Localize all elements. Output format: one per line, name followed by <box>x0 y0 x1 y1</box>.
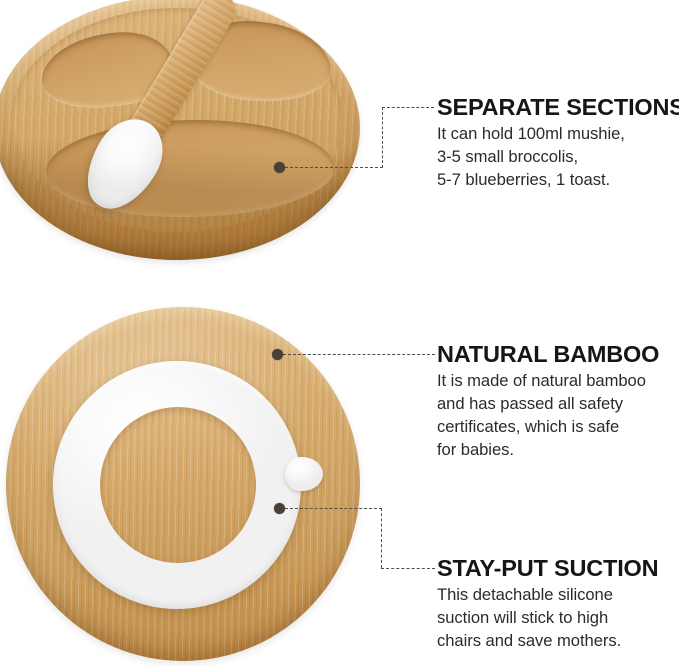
callout-dot-stay-put-suction <box>274 503 285 514</box>
leader-line-stay-put-suction-v <box>381 508 382 568</box>
leader-line-natural-bamboo-h <box>283 354 435 355</box>
leader-line-separate-sections-h2 <box>382 107 434 108</box>
callout-separate-sections: SEPARATE SECTIONS It can hold 100ml mush… <box>437 94 679 192</box>
product-image-plate-underside <box>6 307 366 666</box>
product-image-divided-plate <box>0 0 360 281</box>
callout-title-natural-bamboo: NATURAL BAMBOO <box>437 341 679 367</box>
callout-dot-natural-bamboo <box>272 349 283 360</box>
callout-body-stay-put-suction: This detachable silicone suction will st… <box>437 584 679 653</box>
callout-body-natural-bamboo: It is made of natural bamboo and has pas… <box>437 370 679 462</box>
callout-body-separate-sections: It can hold 100ml mushie, 3-5 small broc… <box>437 123 679 192</box>
silicone-suction-ring <box>53 361 301 609</box>
infographic-canvas: SEPARATE SECTIONS It can hold 100ml mush… <box>0 0 679 666</box>
callout-natural-bamboo: NATURAL BAMBOO It is made of natural bam… <box>437 341 679 462</box>
callout-title-separate-sections: SEPARATE SECTIONS <box>437 94 679 120</box>
silicone-ring-inner-opening <box>100 407 256 563</box>
callout-title-stay-put-suction: STAY-PUT SUCTION <box>437 555 679 581</box>
leader-line-separate-sections-v <box>382 107 383 168</box>
leader-line-stay-put-suction-h2 <box>381 568 435 569</box>
callout-stay-put-suction: STAY-PUT SUCTION This detachable silicon… <box>437 555 679 653</box>
leader-line-separate-sections-h1 <box>285 167 383 168</box>
leader-line-stay-put-suction-h1 <box>285 508 382 509</box>
callout-dot-separate-sections <box>274 162 285 173</box>
